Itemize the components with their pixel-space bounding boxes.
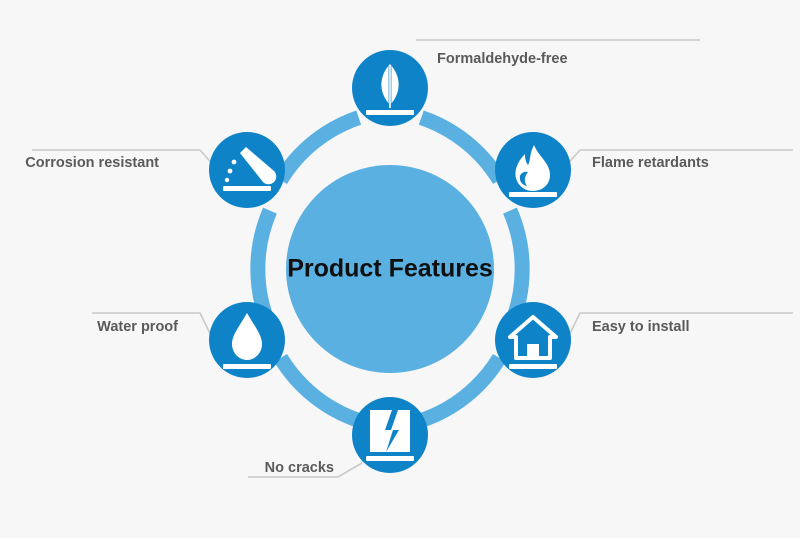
page-title: Product Features <box>287 255 493 283</box>
feature-label-easy-to-install: Easy to install <box>592 319 690 335</box>
product-features-diagram: Product Features Formaldehyde-free Flame… <box>0 0 800 538</box>
feature-node-water-proof[interactable] <box>209 302 285 378</box>
feature-label-water-proof: Water proof <box>97 319 178 335</box>
feature-node-flame-retardants[interactable] <box>495 132 571 208</box>
icon-circle <box>209 132 285 208</box>
feature-label-no-cracks: No cracks <box>265 460 334 476</box>
feature-label-formaldehyde-free: Formaldehyde-free <box>437 51 568 67</box>
feature-node-formaldehyde-free[interactable] <box>352 50 428 126</box>
feature-node-easy-to-install[interactable] <box>495 302 571 378</box>
feature-label-flame-retardants: Flame retardants <box>592 155 709 171</box>
feature-node-no-cracks[interactable] <box>352 397 428 473</box>
feature-node-corrosion-resistant[interactable] <box>209 132 285 208</box>
feature-label-corrosion-resistant: Corrosion resistant <box>25 155 159 171</box>
